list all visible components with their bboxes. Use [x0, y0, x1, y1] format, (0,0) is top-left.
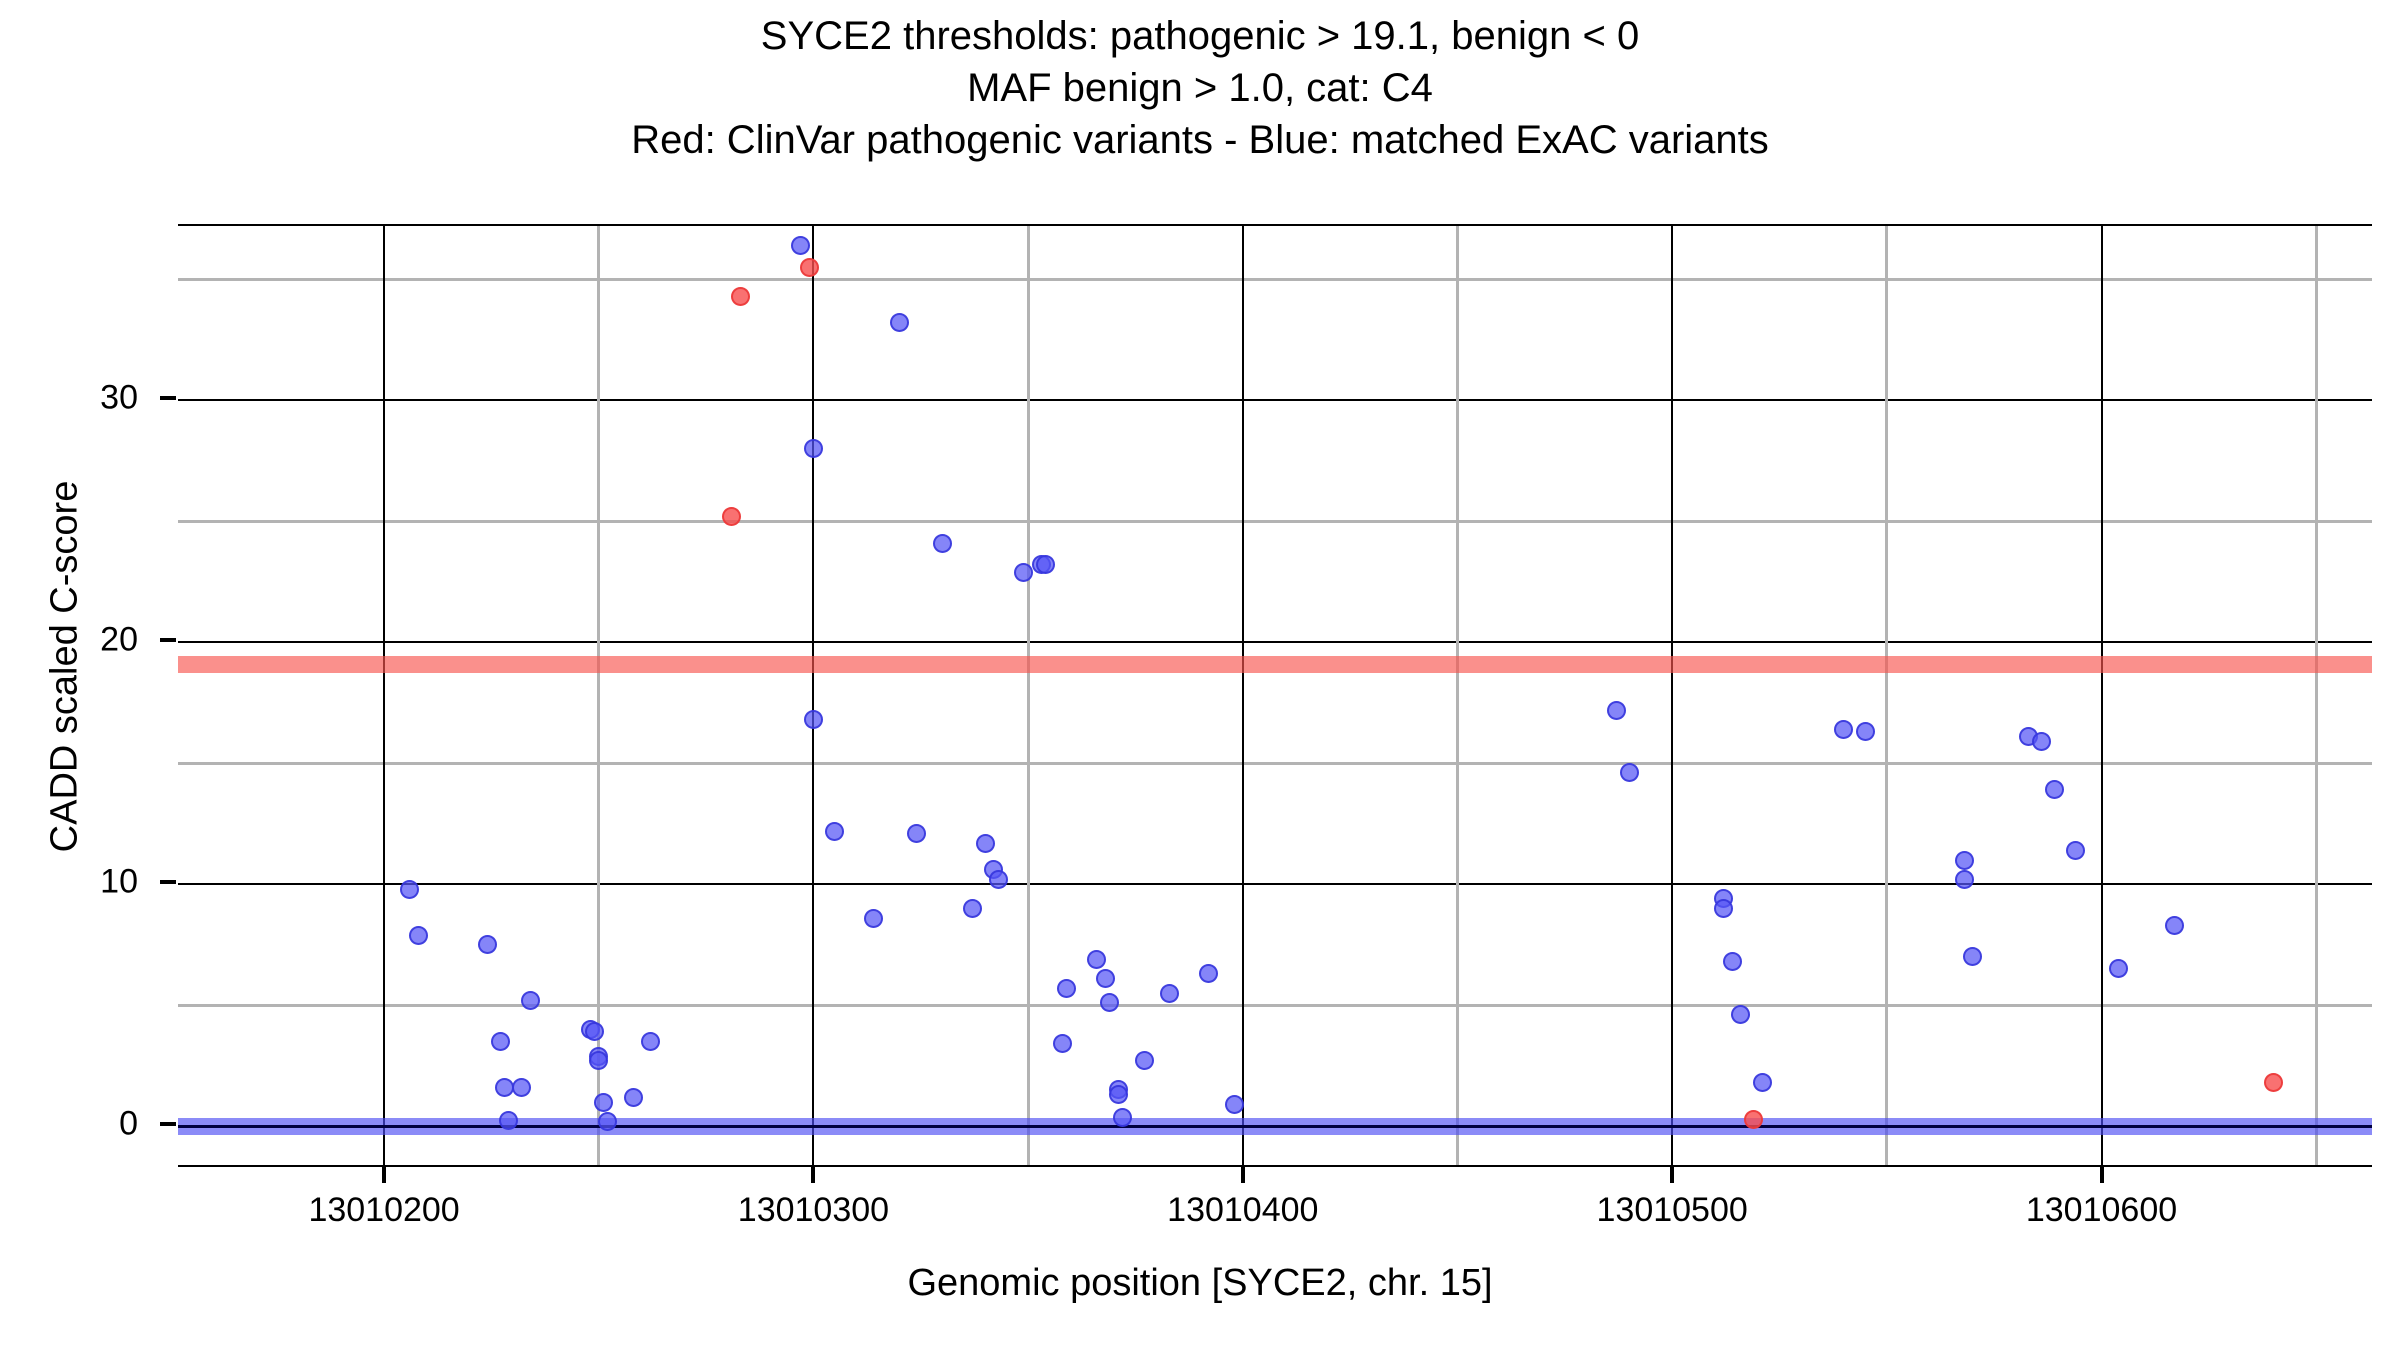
data-point-blue [491, 1032, 510, 1051]
gridline-horizontal-major [178, 399, 2372, 401]
title-line-1: SYCE2 thresholds: pathogenic > 19.1, ben… [0, 10, 2400, 62]
data-point-blue [1087, 950, 1106, 969]
data-point-blue [791, 236, 810, 255]
x-tick-mark [1241, 1167, 1245, 1183]
data-point-blue [1096, 969, 1115, 988]
data-point-red [1744, 1110, 1763, 1129]
data-point-blue [1731, 1005, 1750, 1024]
gridline-vertical-major [812, 226, 814, 1165]
x-tick-mark [1670, 1167, 1674, 1183]
data-point-blue [804, 710, 823, 729]
data-point-blue [512, 1078, 531, 1097]
x-axis-label: Genomic position [SYCE2, chr. 15] [0, 1262, 2400, 1305]
data-point-blue [2109, 959, 2128, 978]
chart-title: SYCE2 thresholds: pathogenic > 19.1, ben… [0, 10, 2400, 166]
data-point-blue [963, 899, 982, 918]
data-point-blue [1199, 964, 1218, 983]
y-axis: 0102030 [0, 224, 178, 1163]
data-point-blue [1963, 947, 1982, 966]
data-point-blue [1834, 720, 1853, 739]
data-point-blue [641, 1032, 660, 1051]
gridline-horizontal-minor [178, 762, 2372, 765]
data-point-blue [495, 1078, 514, 1097]
data-point-blue [589, 1051, 608, 1070]
x-tick-mark [382, 1167, 386, 1183]
gridline-horizontal-minor [178, 1004, 2372, 1007]
data-point-blue [594, 1093, 613, 1112]
data-point-blue [1135, 1051, 1154, 1070]
data-point-red [722, 507, 741, 526]
data-point-blue [825, 822, 844, 841]
data-point-blue [521, 991, 540, 1010]
gridline-vertical-major [2101, 226, 2103, 1165]
plot-area [178, 226, 2372, 1165]
gridline-horizontal-minor [178, 278, 2372, 281]
x-tick-label: 13010200 [308, 1191, 459, 1230]
data-point-blue [1100, 993, 1119, 1012]
data-point-red [2264, 1073, 2283, 1092]
data-point-blue [2045, 780, 2064, 799]
data-point-red [731, 287, 750, 306]
data-point-blue [409, 926, 428, 945]
data-point-blue [1856, 722, 1875, 741]
data-point-blue [1955, 870, 1974, 889]
x-tick-label: 13010600 [2026, 1191, 2177, 1230]
x-tick-mark [2100, 1167, 2104, 1183]
data-point-blue [2165, 916, 2184, 935]
x-tick-label: 13010300 [738, 1191, 889, 1230]
y-tick-label: 0 [0, 1105, 138, 1144]
y-tick-mark [160, 396, 176, 400]
y-tick-mark [160, 1122, 176, 1126]
y-tick-mark [160, 880, 176, 884]
data-point-blue [2032, 732, 2051, 751]
gridline-vertical-major [383, 226, 385, 1165]
data-point-blue [1607, 701, 1626, 720]
data-point-blue [400, 880, 419, 899]
data-point-blue [864, 909, 883, 928]
data-point-blue [478, 935, 497, 954]
title-line-3: Red: ClinVar pathogenic variants - Blue:… [0, 114, 2400, 166]
gridline-horizontal-major [178, 883, 2372, 885]
data-point-red [800, 258, 819, 277]
data-point-blue [890, 313, 909, 332]
data-point-blue [1160, 984, 1179, 1003]
data-point-blue [1057, 979, 1076, 998]
data-point-blue [1955, 851, 1974, 870]
data-point-blue [585, 1022, 604, 1041]
data-point-blue [1714, 899, 1733, 918]
data-point-blue [989, 870, 1008, 889]
gridline-vertical-minor [2315, 226, 2318, 1165]
x-axis: 1301020013010300130104001301050013010600 [178, 1165, 2372, 1245]
gridline-vertical-major [1242, 226, 1244, 1165]
y-tick-mark [160, 638, 176, 642]
data-point-blue [1036, 555, 1055, 574]
gridline-vertical-minor [1885, 226, 1888, 1165]
data-point-blue [933, 534, 952, 553]
x-tick-mark [811, 1167, 815, 1183]
gridline-vertical-major [1671, 226, 1673, 1165]
threshold-band-pathogenic [178, 656, 2372, 673]
title-line-2: MAF benign > 1.0, cat: C4 [0, 62, 2400, 114]
gridline-horizontal-major [178, 641, 2372, 643]
gridline-vertical-minor [1456, 226, 1459, 1165]
data-point-blue [598, 1112, 617, 1131]
data-point-blue [1109, 1085, 1128, 1104]
data-point-blue [2066, 841, 2085, 860]
y-axis-label: CADD scaled C-score [44, 237, 87, 1097]
data-point-blue [907, 824, 926, 843]
x-tick-label: 13010400 [1167, 1191, 1318, 1230]
data-point-blue [1053, 1034, 1072, 1053]
data-point-blue [976, 834, 995, 853]
data-point-blue [1620, 763, 1639, 782]
data-point-blue [624, 1088, 643, 1107]
gridline-vertical-minor [1027, 226, 1030, 1165]
data-point-blue [1723, 952, 1742, 971]
data-point-blue [804, 439, 823, 458]
x-tick-label: 13010500 [1597, 1191, 1748, 1230]
data-point-blue [1753, 1073, 1772, 1092]
data-point-blue [1225, 1095, 1244, 1114]
plot-panel [178, 224, 2372, 1167]
data-point-blue [1014, 563, 1033, 582]
gridline-horizontal-minor [178, 520, 2372, 523]
data-point-blue [499, 1111, 518, 1130]
chart-figure: SYCE2 thresholds: pathogenic > 19.1, ben… [0, 0, 2400, 1350]
